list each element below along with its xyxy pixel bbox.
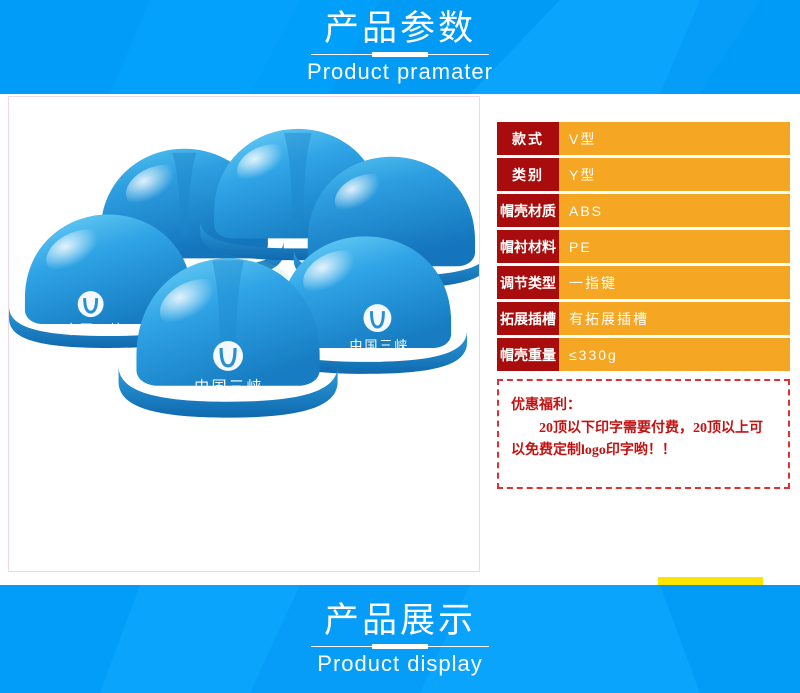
svg-text:中国三峡: 中国三峡 xyxy=(350,338,410,353)
banner-title-en: Product pramater xyxy=(307,61,493,83)
table-row: 帽壳材质 ABS xyxy=(497,194,790,227)
spec-value: PE xyxy=(559,230,790,263)
product-parameters-banner: 产品参数 Product pramater xyxy=(0,0,800,94)
spec-value: V型 xyxy=(559,122,790,155)
promo-body: 20顶以下印字需要付费，20顶以上可以免费定制logo印字哟！！ xyxy=(511,418,776,461)
promotion-callout-box: 优惠福利： 20顶以下印字需要付费，20顶以上可以免费定制logo印字哟！！ xyxy=(497,379,790,489)
product-display-banner: 产品展示 Product display xyxy=(0,585,800,693)
promo-title: 优惠福利： xyxy=(511,395,776,416)
spec-value: ABS xyxy=(559,194,790,227)
banner-title-cn: 产品参数 xyxy=(324,11,476,46)
spec-value: 有拓展插槽 xyxy=(559,302,790,335)
product-spec-table: 款式 V型 类别 Y型 帽壳材质 ABS 帽衬材料 PE 调节类型 一指键 拓展… xyxy=(497,122,790,374)
spec-label: 帽壳材质 xyxy=(497,194,559,227)
banner-divider xyxy=(311,52,489,57)
svg-text:中国三峡: 中国三峡 xyxy=(65,322,125,337)
table-row: 拓展插槽 有拓展插槽 xyxy=(497,302,790,335)
helmet-group-image: HUA 中国三峡 中国三峡 xyxy=(9,97,479,571)
spec-label: 帽壳重量 xyxy=(497,338,559,371)
content-area: HUA 中国三峡 中国三峡 xyxy=(0,94,800,585)
table-row: 款式 V型 xyxy=(497,122,790,155)
table-row: 帽衬材料 PE xyxy=(497,230,790,263)
banner-divider xyxy=(311,644,489,649)
spec-label: 款式 xyxy=(497,122,559,155)
table-row: 调节类型 一指键 xyxy=(497,266,790,299)
spec-label: 类别 xyxy=(497,158,559,191)
banner-title-en: Product display xyxy=(317,653,482,675)
spec-value: ≤330g xyxy=(559,338,790,371)
spec-label: 帽衬材料 xyxy=(497,230,559,263)
spec-value: Y型 xyxy=(559,158,790,191)
spec-label: 拓展插槽 xyxy=(497,302,559,335)
spec-label: 调节类型 xyxy=(497,266,559,299)
yellow-accent-bar xyxy=(658,577,763,585)
svg-text:中国三峡: 中国三峡 xyxy=(194,379,264,396)
banner-title-cn: 产品展示 xyxy=(324,603,476,638)
table-row: 帽壳重量 ≤330g xyxy=(497,338,790,371)
product-image-panel: HUA 中国三峡 中国三峡 xyxy=(8,96,480,572)
table-row: 类别 Y型 xyxy=(497,158,790,191)
spec-value: 一指键 xyxy=(559,266,790,299)
